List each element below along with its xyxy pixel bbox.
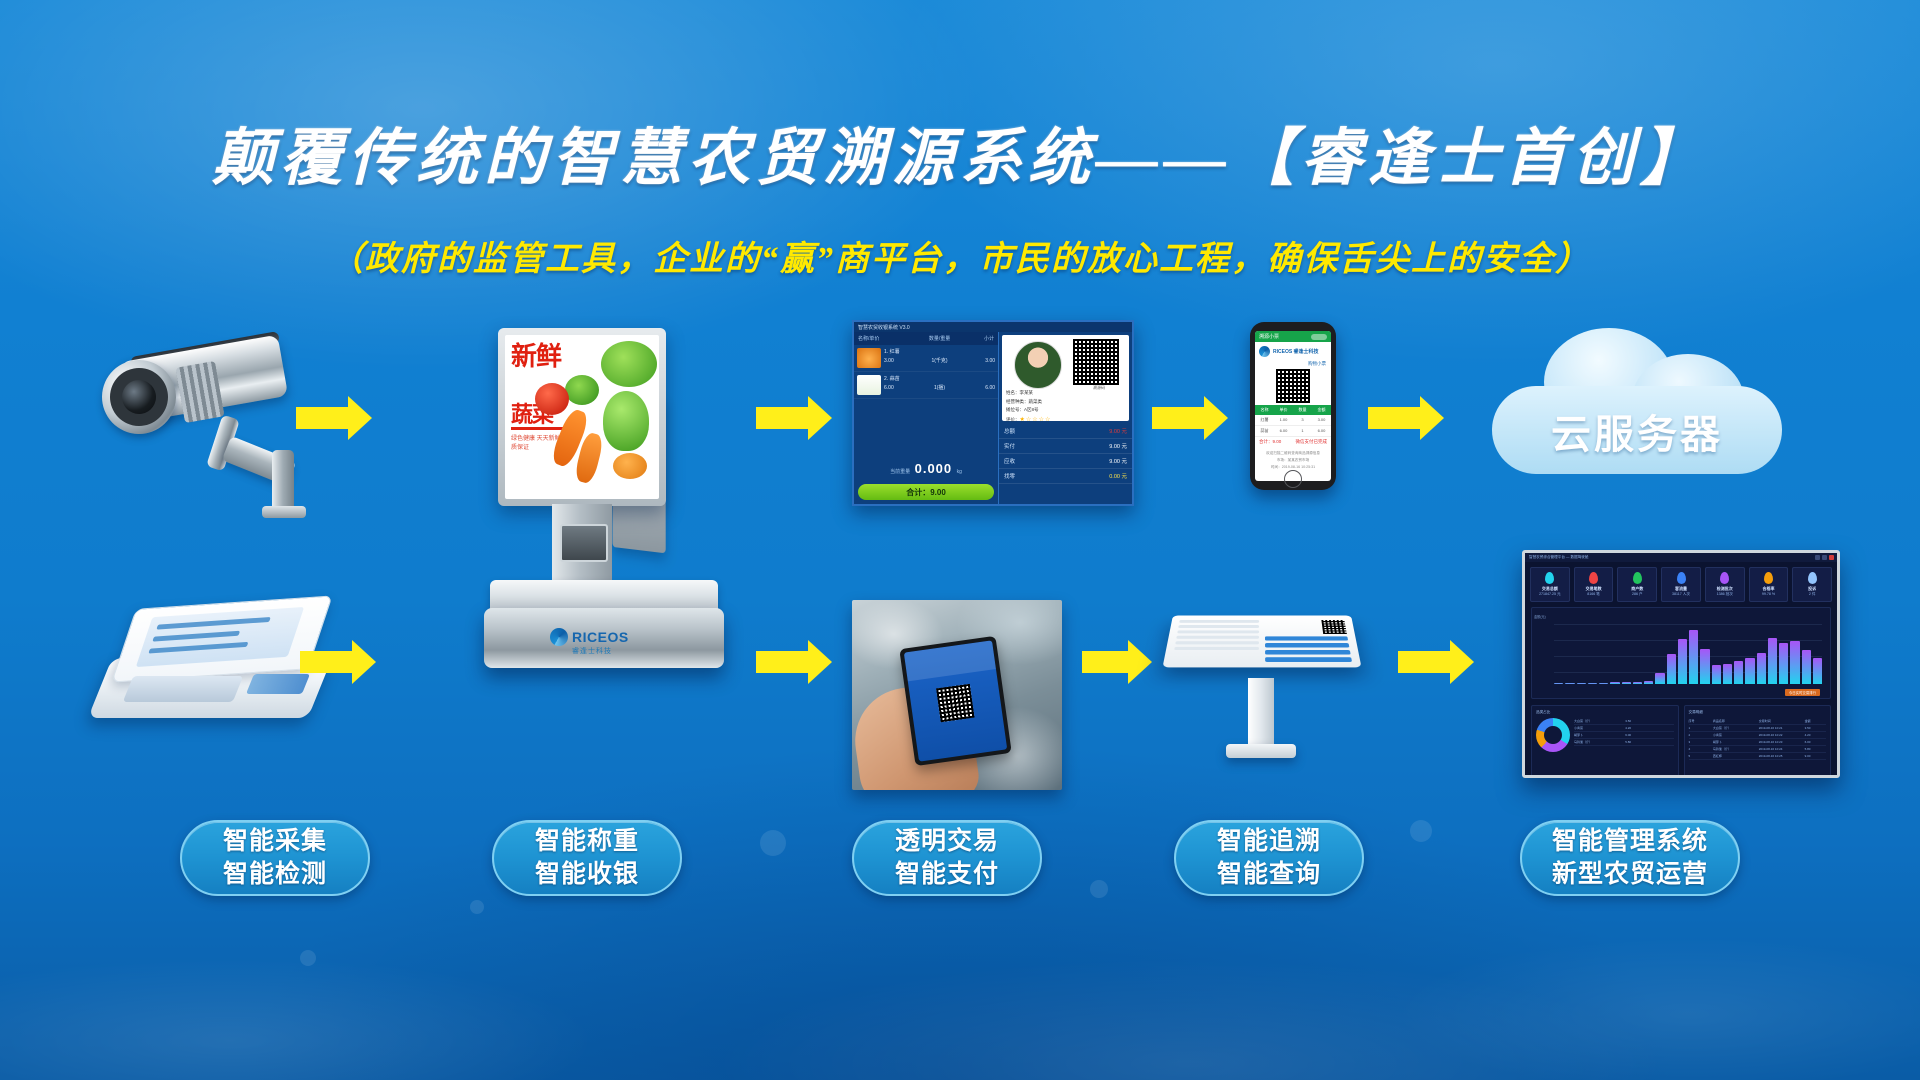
amount-row: 应收9.00 元 — [999, 454, 1132, 469]
bar — [1757, 653, 1766, 684]
traceability-qr-code — [1073, 339, 1119, 385]
table-row: 红薯1.00 33.00 — [1255, 415, 1331, 426]
pill-line-1: 智能追溯 — [1217, 825, 1321, 858]
y-axis-label: 金额(元) — [1534, 614, 1546, 619]
transaction-bar-chart: 金额(元) 今日实时交易排行 — [1531, 607, 1831, 699]
bar — [1577, 683, 1586, 684]
ad-headline: 新鲜 — [511, 345, 561, 370]
management-dashboard-monitor: 智慧农贸综合管理平台 — 数据驾驶舱 交易总额271847.25 元 交易笔数8… — [1522, 550, 1840, 778]
miniprogram-title: 溯源小票 — [1259, 333, 1279, 340]
kpi-card: 合格率99.78 % — [1749, 567, 1789, 602]
pos-software-screen: 智慧农贸收银系统 V3.0 名称/单价 数量/重量 小计 1. 红薯 3.00 … — [852, 320, 1134, 506]
page-subtitle: （政府的监管工具，企业的“赢”商平台，市民的放心工程，确保舌尖上的安全） — [0, 243, 1920, 277]
bar — [1667, 654, 1676, 684]
bar — [1610, 682, 1619, 684]
riceos-logo-icon — [1259, 346, 1270, 357]
residue-analyzer-device — [100, 590, 330, 740]
kpi-card: 客流量38117 人次 — [1661, 567, 1701, 602]
receipt-qr-code[interactable] — [1276, 369, 1310, 403]
pos-scale-device: 新鲜 蔬菜 绿色健康 天天新鲜 品质保证 RICEOS 睿逢士科技 — [498, 328, 738, 678]
close-button[interactable] — [1829, 555, 1834, 560]
pill-trace-query: 智能追溯 智能查询 — [1174, 820, 1364, 896]
weight-readout: 当前重量 0.000 kg — [854, 460, 998, 478]
qr-caption: 溯源码 — [1073, 385, 1125, 391]
bar — [1554, 683, 1563, 684]
dashboard-panels: 品类占比 大白菜（斤）3.50 小青菜4.20 胡萝卜6.00 马铃薯（斤）5.… — [1525, 699, 1837, 778]
touch-query-kiosk — [1168, 598, 1368, 768]
pill-transparent-pay: 透明交易 智能支付 — [852, 820, 1042, 896]
cloud-label: 云服务器 — [1492, 402, 1782, 460]
bar — [1734, 661, 1743, 684]
bar — [1588, 683, 1597, 684]
cloud-server: 云服务器 — [1492, 328, 1782, 498]
bar — [1768, 638, 1777, 685]
pill-line-2: 智能检测 — [223, 858, 327, 891]
miniprogram-header: 溯源小票 — [1255, 331, 1331, 342]
amount-row: 找零0.00 元 — [999, 469, 1132, 484]
brand-name: RICEOS — [572, 629, 629, 645]
chart-tag: 今日实时交易排行 — [1785, 689, 1820, 696]
rating-stars: ★☆☆☆☆ — [1020, 417, 1052, 423]
kpi-card-row: 交易总额271847.25 元 交易笔数8166 笔 商户数286 户 客流量3… — [1525, 562, 1837, 607]
item-thumbnail — [857, 375, 881, 395]
pill-line-2: 智能收银 — [535, 858, 639, 891]
vegetable-ad-screen: 新鲜 蔬菜 绿色健康 天天新鲜 品质保证 — [505, 335, 659, 499]
table-row: 1. 红薯 3.00 1(千克) 3.00 — [854, 345, 998, 372]
brand-logo: RICEOS — [550, 628, 629, 646]
kiosk-screen[interactable] — [1163, 615, 1362, 667]
dashboard-window-title: 智慧农贸综合管理平台 — 数据驾驶舱 — [1525, 555, 1813, 560]
brand-name: RICEOS 睿逢士科技 — [1273, 348, 1319, 355]
bar — [1790, 641, 1799, 684]
bar — [1633, 682, 1642, 684]
table-row: 2小青菜2019-08-16 10:224.20 — [1689, 732, 1827, 739]
bar — [1599, 683, 1608, 684]
kiosk-qr-code — [1321, 620, 1347, 634]
bar — [1622, 682, 1631, 684]
amount-row: 总额9.00 元 — [999, 424, 1132, 439]
table-row: 5西红柿2019-08-16 10:259.00 — [1689, 753, 1827, 760]
vendor-avatar — [1014, 341, 1062, 389]
table-header: 序号商品名称 交易时间金额 — [1689, 718, 1827, 725]
pill-line-2: 新型农贸运营 — [1552, 858, 1708, 891]
bar — [1779, 643, 1788, 684]
bar-series — [1554, 622, 1822, 684]
item-table-header: 名称/单价 数量/重量 小计 — [854, 332, 998, 345]
receipt-footer: 欢迎扫描二维码查询商品溯源信息 市场：某某农贸市场 时间：2019-08-16 … — [1255, 447, 1331, 470]
test-strip — [246, 674, 310, 694]
software-window-title: 智慧农贸收银系统 V3.0 — [854, 322, 1132, 332]
page-title: 颠覆传统的智慧农贸溯源系统——【睿逢士首创】 — [0, 128, 1920, 190]
receipt-total-row: 合计：9.00微信支付已完成 — [1255, 437, 1331, 447]
bar — [1689, 630, 1698, 684]
donut-chart — [1536, 718, 1570, 752]
table-row: 1大白菜（斤）2019-08-16 10:213.50 — [1689, 725, 1827, 732]
pill-line-1: 智能管理系统 — [1552, 825, 1708, 858]
pill-line-2: 智能支付 — [895, 858, 999, 891]
water-texture — [0, 750, 1920, 1080]
pill-line-1: 智能称重 — [535, 825, 639, 858]
maximize-button[interactable] — [1822, 555, 1827, 560]
pill-management-system: 智能管理系统 新型农贸运营 — [1520, 820, 1740, 896]
transaction-detail-panel: 交易明细 序号商品名称 交易时间金额 1大白菜（斤）2019-08-16 10:… — [1684, 705, 1832, 778]
home-button[interactable] — [1284, 470, 1302, 488]
pos-main-display: 新鲜 蔬菜 绿色健康 天天新鲜 品质保证 — [498, 328, 666, 506]
riceos-logo-icon — [550, 628, 568, 646]
page-subtitle-wrap: （政府的监管工具，企业的“赢”商平台，市民的放心工程，确保舌尖上的安全） — [0, 243, 1920, 277]
kpi-card: 投诉2 件 — [1792, 567, 1832, 602]
mobile-scan-photo — [852, 600, 1062, 790]
pill-collect-detect: 智能采集 智能检测 — [180, 820, 370, 896]
minimize-button[interactable] — [1815, 555, 1820, 560]
bar — [1813, 658, 1822, 684]
amount-row: 实付9.00 元 — [999, 439, 1132, 454]
mobile-receipt-phone: 溯源小票 RICEOS 睿逢士科技 购物小票 名称单价 数量金额 红薯1.00 … — [1250, 322, 1336, 490]
bar — [1565, 683, 1574, 684]
bar — [1644, 681, 1653, 684]
capsule-button[interactable] — [1311, 334, 1327, 340]
table-row: 3胡萝卜2019-08-16 10:236.00 — [1689, 739, 1827, 746]
brand-subname: 睿逢士科技 — [572, 646, 612, 656]
brand-row: RICEOS 睿逢士科技 — [1255, 342, 1331, 361]
category-donut-panel: 品类占比 大白菜（斤）3.50 小青菜4.20 胡萝卜6.00 马铃薯（斤）5.… — [1531, 705, 1679, 778]
kpi-card: 商户数286 户 — [1617, 567, 1657, 602]
kpi-card: 检测批次1386 批次 — [1705, 567, 1745, 602]
page-title-wrap: 颠覆传统的智慧农贸溯源系统——【睿逢士首创】 — [0, 128, 1920, 190]
bar — [1723, 664, 1732, 684]
doc-title: 购物小票 — [1255, 361, 1331, 367]
kpi-card: 交易笔数8166 笔 — [1574, 567, 1614, 602]
total-bar[interactable]: 合计：9.00 — [858, 484, 994, 500]
pill-line-1: 智能采集 — [223, 825, 327, 858]
bar — [1655, 673, 1664, 684]
receipt-printer — [560, 524, 608, 562]
bar — [1678, 639, 1687, 684]
vendor-info-card: 姓名：李某某 经营种类：蔬菜类 摊位号：A区8号 评价：★☆☆☆☆ 溯源码 — [1002, 335, 1129, 421]
cctv-camera-icon — [96, 330, 316, 530]
table-row: 4马铃薯（斤）2019-08-16 10:245.80 — [1689, 746, 1827, 753]
table-row: 蒜苗6.00 16.00 — [1255, 426, 1331, 437]
scanning-phone — [899, 636, 1011, 766]
dashboard-titlebar: 智慧农贸综合管理平台 — 数据驾驶舱 — [1525, 553, 1837, 562]
payment-qr-code — [936, 684, 974, 722]
table-row: 2. 蒜苗 6.00 1(捆) 6.00 — [854, 372, 998, 399]
infographic-canvas: 颠覆传统的智慧农贸溯源系统——【睿逢士首创】 （政府的监管工具，企业的“赢”商平… — [0, 0, 1920, 1080]
bar — [1712, 665, 1721, 684]
item-thumbnail — [857, 348, 881, 368]
bar — [1802, 650, 1811, 684]
bar — [1745, 658, 1754, 684]
pill-line-1: 透明交易 — [895, 825, 999, 858]
pill-line-2: 智能查询 — [1217, 858, 1321, 891]
receipt-table-header: 名称单价 数量金额 — [1255, 405, 1331, 415]
kpi-card: 交易总额271847.25 元 — [1530, 567, 1570, 602]
pill-weigh-checkout: 智能称重 智能收银 — [492, 820, 682, 896]
sample-tray — [123, 676, 244, 702]
bar — [1700, 649, 1709, 684]
